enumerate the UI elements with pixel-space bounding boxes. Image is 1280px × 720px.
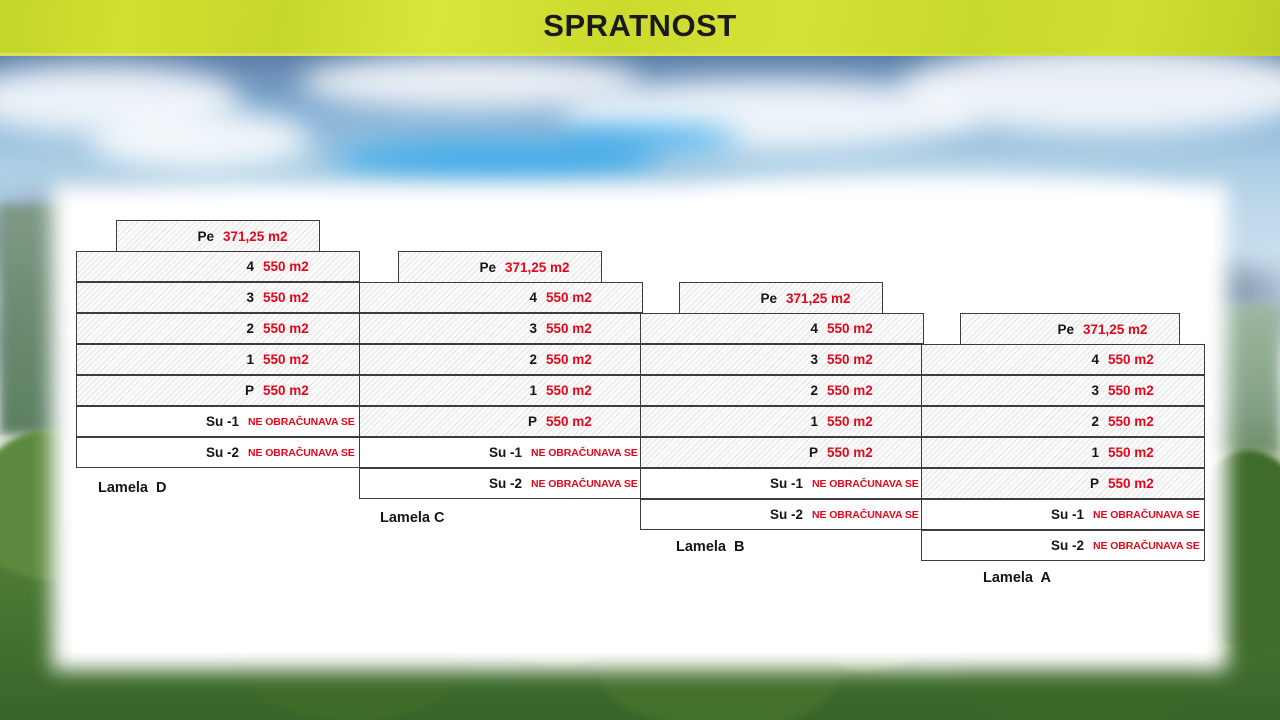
floor-row: Su -1NE OBRAČUNAVA SE: [76, 406, 360, 437]
floor-label: 3: [529, 321, 537, 336]
floor-note: NE OBRAČUNAVA SE: [239, 447, 359, 459]
floor-area-value: 550 m2: [254, 259, 359, 274]
floor-row: Su -2NE OBRAČUNAVA SE: [640, 499, 924, 530]
floor-row-penthouse: Pe371,25 m2: [960, 313, 1180, 344]
floor-label: 4: [1091, 352, 1099, 367]
floor-row: 3550 m2: [359, 313, 643, 344]
floor-row: 1550 m2: [640, 406, 924, 437]
floor-note: NE OBRAČUNAVA SE: [1084, 509, 1204, 521]
floor-label: 2: [810, 383, 818, 398]
floor-area-value: 550 m2: [537, 321, 642, 336]
floor-area-value: 550 m2: [1099, 445, 1204, 460]
floor-row: 4550 m2: [76, 251, 360, 282]
floor-label: 4: [810, 321, 818, 336]
floor-note: NE OBRAČUNAVA SE: [522, 447, 642, 459]
floor-row: 1550 m2: [921, 437, 1205, 468]
floor-label: 2: [246, 321, 254, 336]
floor-label: 1: [246, 352, 254, 367]
floor-note: NE OBRAČUNAVA SE: [239, 416, 359, 428]
floor-row: Su -2NE OBRAČUNAVA SE: [921, 530, 1205, 561]
floor-label: Pe: [1057, 322, 1074, 337]
floor-area-value: 550 m2: [537, 383, 642, 398]
floor-label: Su -1: [489, 445, 522, 460]
floor-row: 2550 m2: [359, 344, 643, 375]
floor-label: Su -1: [770, 476, 803, 491]
lamela-caption-c: Lamela C: [380, 510, 444, 526]
floor-area-value: 371,25 m2: [496, 260, 601, 275]
floor-label: P: [528, 414, 537, 429]
floor-label: Pe: [760, 291, 777, 306]
floor-label: P: [245, 383, 254, 398]
floor-row: 2550 m2: [921, 406, 1205, 437]
lamela-caption-b: Lamela B: [676, 539, 745, 555]
floor-label: 2: [529, 352, 537, 367]
floor-row: 3550 m2: [76, 282, 360, 313]
floor-area-value: 550 m2: [537, 290, 642, 305]
floor-area-value: 550 m2: [1099, 414, 1204, 429]
floor-row: 3550 m2: [921, 375, 1205, 406]
floor-note: NE OBRAČUNAVA SE: [803, 478, 923, 490]
floor-row-penthouse: Pe371,25 m2: [116, 220, 320, 251]
floor-row: P550 m2: [921, 468, 1205, 499]
floor-label: 1: [1091, 445, 1099, 460]
floor-area-value: 550 m2: [537, 414, 642, 429]
floor-label: Su -2: [770, 507, 803, 522]
floor-label: Su -2: [1051, 538, 1084, 553]
floor-row: 2550 m2: [640, 375, 924, 406]
floor-area-value: 550 m2: [254, 321, 359, 336]
floor-row: 1550 m2: [76, 344, 360, 375]
floor-row: 4550 m2: [921, 344, 1205, 375]
floor-row: Su -2NE OBRAČUNAVA SE: [76, 437, 360, 468]
floor-note: NE OBRAČUNAVA SE: [803, 509, 923, 521]
floor-row: P550 m2: [640, 437, 924, 468]
floor-row-penthouse: Pe371,25 m2: [679, 282, 883, 313]
floor-area-value: 371,25 m2: [1074, 322, 1179, 337]
floor-area-value: 550 m2: [1099, 476, 1204, 491]
floor-area-value: 550 m2: [254, 383, 359, 398]
lamela-caption-a: Lamela A: [983, 570, 1051, 586]
floor-row-penthouse: Pe371,25 m2: [398, 251, 602, 282]
floor-area-value: 550 m2: [254, 290, 359, 305]
floor-area-value: 550 m2: [537, 352, 642, 367]
floor-label: Pe: [197, 229, 214, 244]
floor-note: NE OBRAČUNAVA SE: [1084, 540, 1204, 552]
floor-row: 3550 m2: [640, 344, 924, 375]
floor-area-value: 550 m2: [818, 414, 923, 429]
floor-label: P: [809, 445, 818, 460]
floor-label: Su -2: [489, 476, 522, 491]
floor-row: 4550 m2: [359, 282, 643, 313]
floor-label: P: [1090, 476, 1099, 491]
floor-area-value: 550 m2: [818, 445, 923, 460]
floor-label: 3: [1091, 383, 1099, 398]
floor-label: 1: [529, 383, 537, 398]
slide-root: SPRATNOST Pe371,25 m24550 m23550 m22550 …: [0, 0, 1280, 720]
floor-note: NE OBRAČUNAVA SE: [522, 478, 642, 490]
floor-label: 4: [246, 259, 254, 274]
floor-area-value: 550 m2: [1099, 383, 1204, 398]
floor-label: Pe: [479, 260, 496, 275]
floor-row: 1550 m2: [359, 375, 643, 406]
floor-label: Su -1: [1051, 507, 1084, 522]
floor-row: 4550 m2: [640, 313, 924, 344]
floor-label: 1: [810, 414, 818, 429]
floor-row: P550 m2: [76, 375, 360, 406]
floor-area-value: 371,25 m2: [214, 229, 319, 244]
floor-label: 4: [529, 290, 537, 305]
floor-area-value: 550 m2: [1099, 352, 1204, 367]
floor-row: Su -1NE OBRAČUNAVA SE: [640, 468, 924, 499]
floor-row: 2550 m2: [76, 313, 360, 344]
floor-stack-diagram: Pe371,25 m24550 m23550 m22550 m21550 m2P…: [0, 0, 1280, 720]
floor-label: 2: [1091, 414, 1099, 429]
lamela-caption-d: Lamela D: [98, 480, 167, 496]
floor-label: Su -2: [206, 445, 239, 460]
floor-area-value: 550 m2: [254, 352, 359, 367]
floor-area-value: 371,25 m2: [777, 291, 882, 306]
floor-area-value: 550 m2: [818, 352, 923, 367]
floor-row: P550 m2: [359, 406, 643, 437]
floor-row: Su -2NE OBRAČUNAVA SE: [359, 468, 643, 499]
floor-label: 3: [246, 290, 254, 305]
floor-label: 3: [810, 352, 818, 367]
floor-row: Su -1NE OBRAČUNAVA SE: [359, 437, 643, 468]
floor-area-value: 550 m2: [818, 321, 923, 336]
floor-label: Su -1: [206, 414, 239, 429]
floor-row: Su -1NE OBRAČUNAVA SE: [921, 499, 1205, 530]
floor-area-value: 550 m2: [818, 383, 923, 398]
